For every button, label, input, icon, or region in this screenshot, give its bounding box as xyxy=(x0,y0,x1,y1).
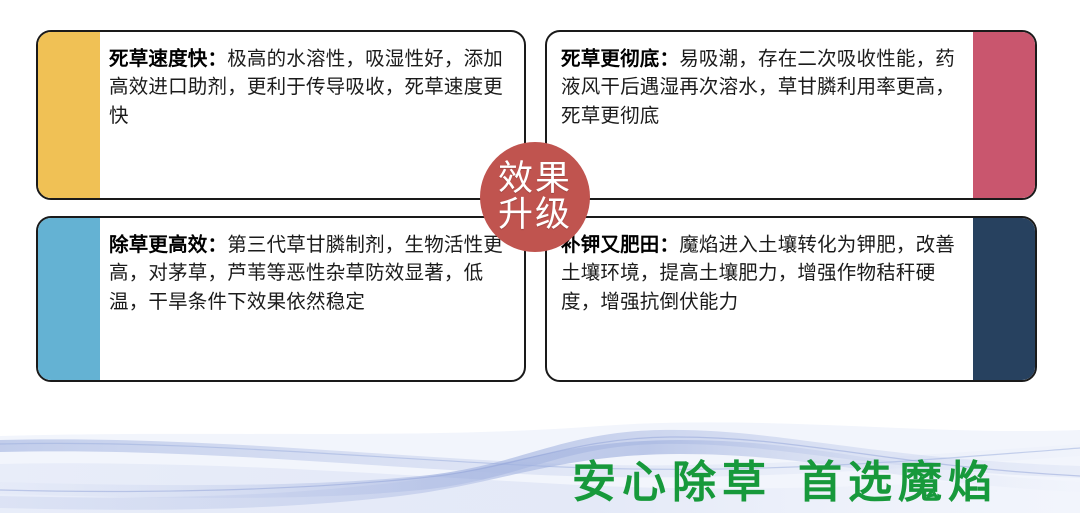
center-badge: 效果 升级 xyxy=(480,142,590,252)
feature-card-text: 除草更高效：第三代草甘膦制剂，生物活性更高，对茅草，芦苇等恶性杂草防效显著，低温… xyxy=(100,218,524,380)
accent-bar-rose xyxy=(973,32,1035,198)
slogan-part-2: 首选魔焰 xyxy=(798,446,998,510)
feature-card-text: 死草速度快：极高的水溶性，吸湿性好，添加高效进口助剂，更利于传导吸收，死草速度更… xyxy=(100,32,524,198)
feature-card-top-right[interactable]: 死草更彻底：易吸潮，存在二次吸收性能，药液风干后遇湿再次溶水，草甘膦利用率更高，… xyxy=(545,30,1037,200)
feature-card-lead: 死草更彻底： xyxy=(561,49,679,70)
center-badge-line2: 升级 xyxy=(498,197,572,233)
feature-card-lead: 除草更高效： xyxy=(109,235,227,256)
accent-bar-blue xyxy=(38,218,100,380)
feature-card-text: 死草更彻底：易吸潮，存在二次吸收性能，药液风干后遇湿再次溶水，草甘膦利用率更高，… xyxy=(547,32,973,198)
feature-card-top-left[interactable]: 死草速度快：极高的水溶性，吸湿性好，添加高效进口助剂，更利于传导吸收，死草速度更… xyxy=(36,30,526,200)
slide-canvas: 死草速度快：极高的水溶性，吸湿性好，添加高效进口助剂，更利于传导吸收，死草速度更… xyxy=(0,0,1080,513)
accent-bar-navy xyxy=(973,218,1035,380)
accent-bar-yellow xyxy=(38,32,100,198)
feature-card-lead: 补钾又肥田： xyxy=(561,235,679,256)
feature-card-text: 补钾又肥田：魔焰进入土壤转化为钾肥，改善土壤环境，提高土壤肥力，增强作物秸秆硬度… xyxy=(547,218,973,380)
feature-card-bottom-right[interactable]: 补钾又肥田：魔焰进入土壤转化为钾肥，改善土壤环境，提高土壤肥力，增强作物秸秆硬度… xyxy=(545,216,1037,382)
feature-card-bottom-left[interactable]: 除草更高效：第三代草甘膦制剂，生物活性更高，对茅草，芦苇等恶性杂草防效显著，低温… xyxy=(36,216,526,382)
feature-card-lead: 死草速度快： xyxy=(109,49,227,70)
center-badge-line1: 效果 xyxy=(498,161,572,197)
slogan-part-1: 安心除草 xyxy=(572,446,772,510)
footer-slogan: 安心除草 首选魔焰 xyxy=(572,446,1072,510)
